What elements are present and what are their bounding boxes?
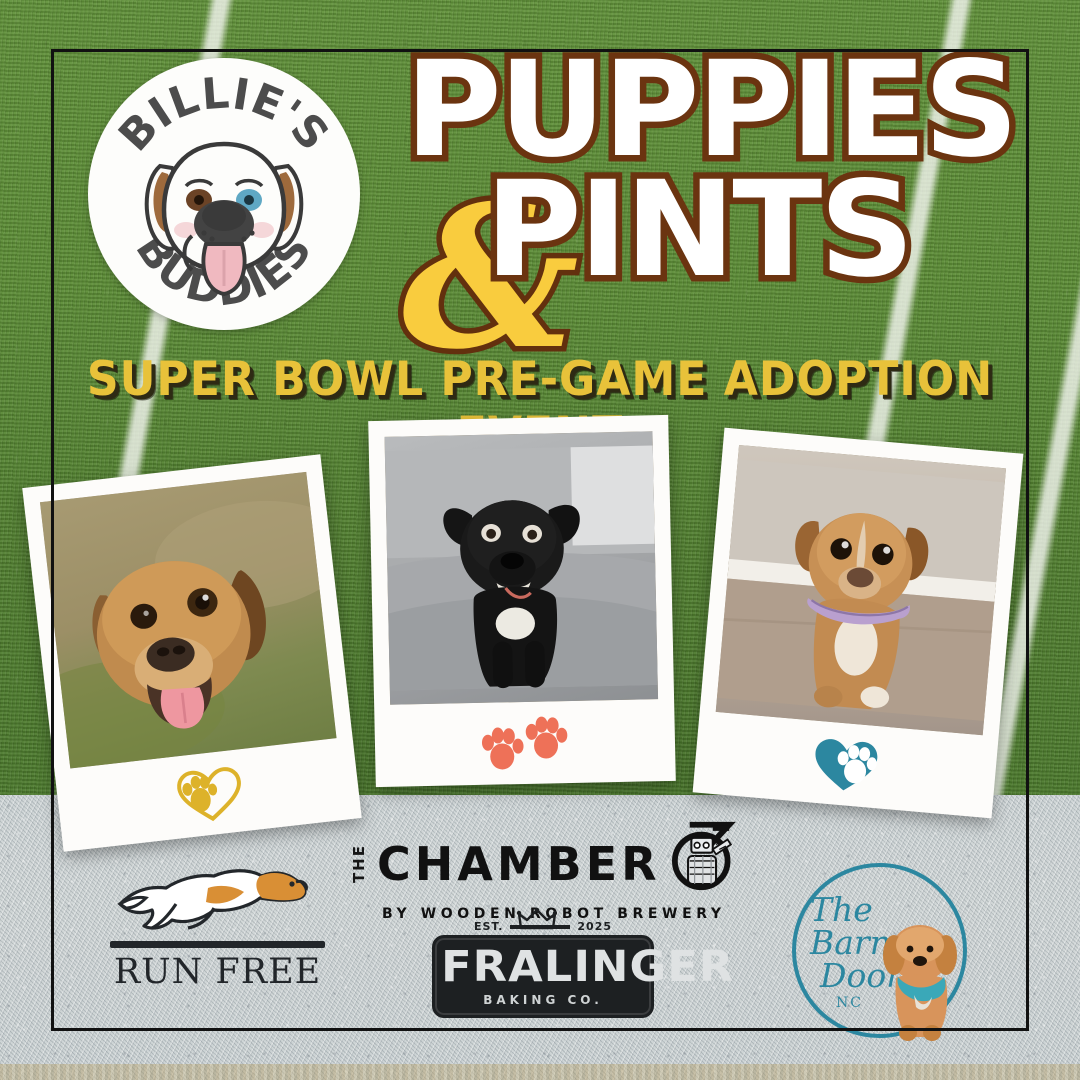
chamber-the-label: THE <box>352 844 367 883</box>
poster-title: PUPPIES & PINTS <box>405 52 1005 288</box>
sponsor-fralinger-baking: EST. 2025 FRALINGER BAKING CO. <box>432 920 654 1018</box>
double-paw-print-icon <box>479 713 570 773</box>
photo-caption-icons <box>390 699 660 787</box>
photo-image <box>40 472 337 769</box>
sponsor-run-free: RUN FREE <box>110 858 325 992</box>
fralinger-est-label: EST. <box>474 920 503 933</box>
puppy-photo-tan-grass <box>22 454 362 852</box>
crown-icon <box>517 908 557 932</box>
run-free-divider-bar <box>110 941 325 948</box>
billies-buddies-logo: BILLIE'S BUDDIES <box>88 58 360 330</box>
fralinger-est-year: 2025 <box>577 920 612 933</box>
puppy-photo-black-couch <box>368 415 676 787</box>
fralinger-badge: FRALINGER BAKING CO. <box>432 935 654 1018</box>
heart-with-paw-cutout-icon <box>806 732 885 796</box>
fralinger-est-row: EST. 2025 <box>432 920 654 933</box>
logo-artwork: BILLIE'S BUDDIES <box>88 58 360 330</box>
running-dog-icon <box>110 858 325 936</box>
puppy-photo-tan-collar <box>693 428 1024 819</box>
tan-collar-puppy-illustration <box>716 445 1006 735</box>
wooden-robot-barrel-emblem-icon <box>665 812 737 900</box>
photo-image <box>385 431 659 705</box>
photo-image <box>716 445 1006 735</box>
barn-door-circle-frame: The Barn Door NC <box>792 863 967 1038</box>
goldendoodle-puppy-icon <box>874 919 970 1043</box>
black-puppy-illustration <box>385 431 659 705</box>
title-line-puppies: PUPPIES <box>405 52 1005 168</box>
sponsor-the-barn-door-nc: The Barn Door NC <box>792 863 990 1038</box>
chamber-wordmark: CHAMBER <box>377 841 661 887</box>
title-line-pints: PINTS <box>485 172 1005 288</box>
fralinger-tagline: BAKING CO. <box>445 993 641 1007</box>
pavement-edge-strip <box>0 1064 1080 1080</box>
sponsor-logo-row: RUN FREE THE CHAMBER BY WOODEN ROBOT BRE… <box>0 828 1080 1028</box>
paw-in-heart-outline-icon <box>169 761 247 827</box>
run-free-wordmark: RUN FREE <box>110 952 325 992</box>
tan-puppy-illustration <box>40 472 337 769</box>
fralinger-wordmark: FRALINGER <box>441 947 645 988</box>
